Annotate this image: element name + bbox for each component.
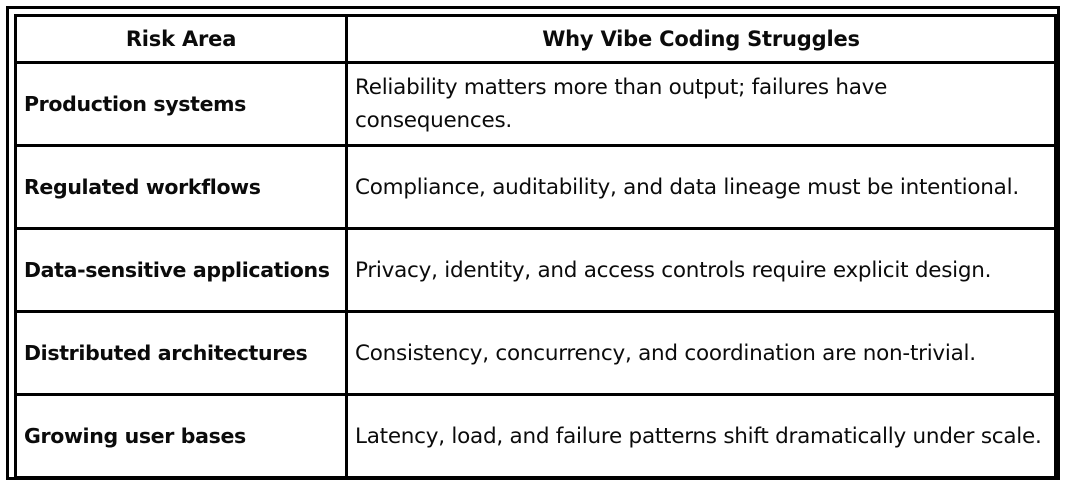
table-header-row: Risk Area Why Vibe Coding Struggles [16, 16, 1056, 63]
cell-risk-area: Distributed architectures [16, 312, 347, 395]
risk-area-table: Risk Area Why Vibe Coding Struggles Prod… [14, 14, 1057, 479]
table-row: Growing user bases Latency, load, and fa… [16, 395, 1056, 478]
cell-why: Compliance, auditability, and data linea… [347, 146, 1056, 229]
table-row: Regulated workflows Compliance, auditabi… [16, 146, 1056, 229]
table-outer-frame: Risk Area Why Vibe Coding Struggles Prod… [6, 6, 1060, 480]
table-row: Distributed architectures Consistency, c… [16, 312, 1056, 395]
cell-risk-area: Production systems [16, 63, 347, 146]
table-row: Production systems Reliability matters m… [16, 63, 1056, 146]
cell-risk-area: Data-sensitive applications [16, 229, 347, 312]
column-header-risk-area: Risk Area [16, 16, 347, 63]
cell-risk-area: Regulated workflows [16, 146, 347, 229]
cell-risk-area: Growing user bases [16, 395, 347, 478]
cell-why: Consistency, concurrency, and coordinati… [347, 312, 1056, 395]
cell-why: Reliability matters more than output; fa… [347, 63, 1056, 146]
cell-why: Latency, load, and failure patterns shif… [347, 395, 1056, 478]
cell-why: Privacy, identity, and access controls r… [347, 229, 1056, 312]
table-row: Data-sensitive applications Privacy, ide… [16, 229, 1056, 312]
column-header-why-vibe-coding-struggles: Why Vibe Coding Struggles [347, 16, 1056, 63]
